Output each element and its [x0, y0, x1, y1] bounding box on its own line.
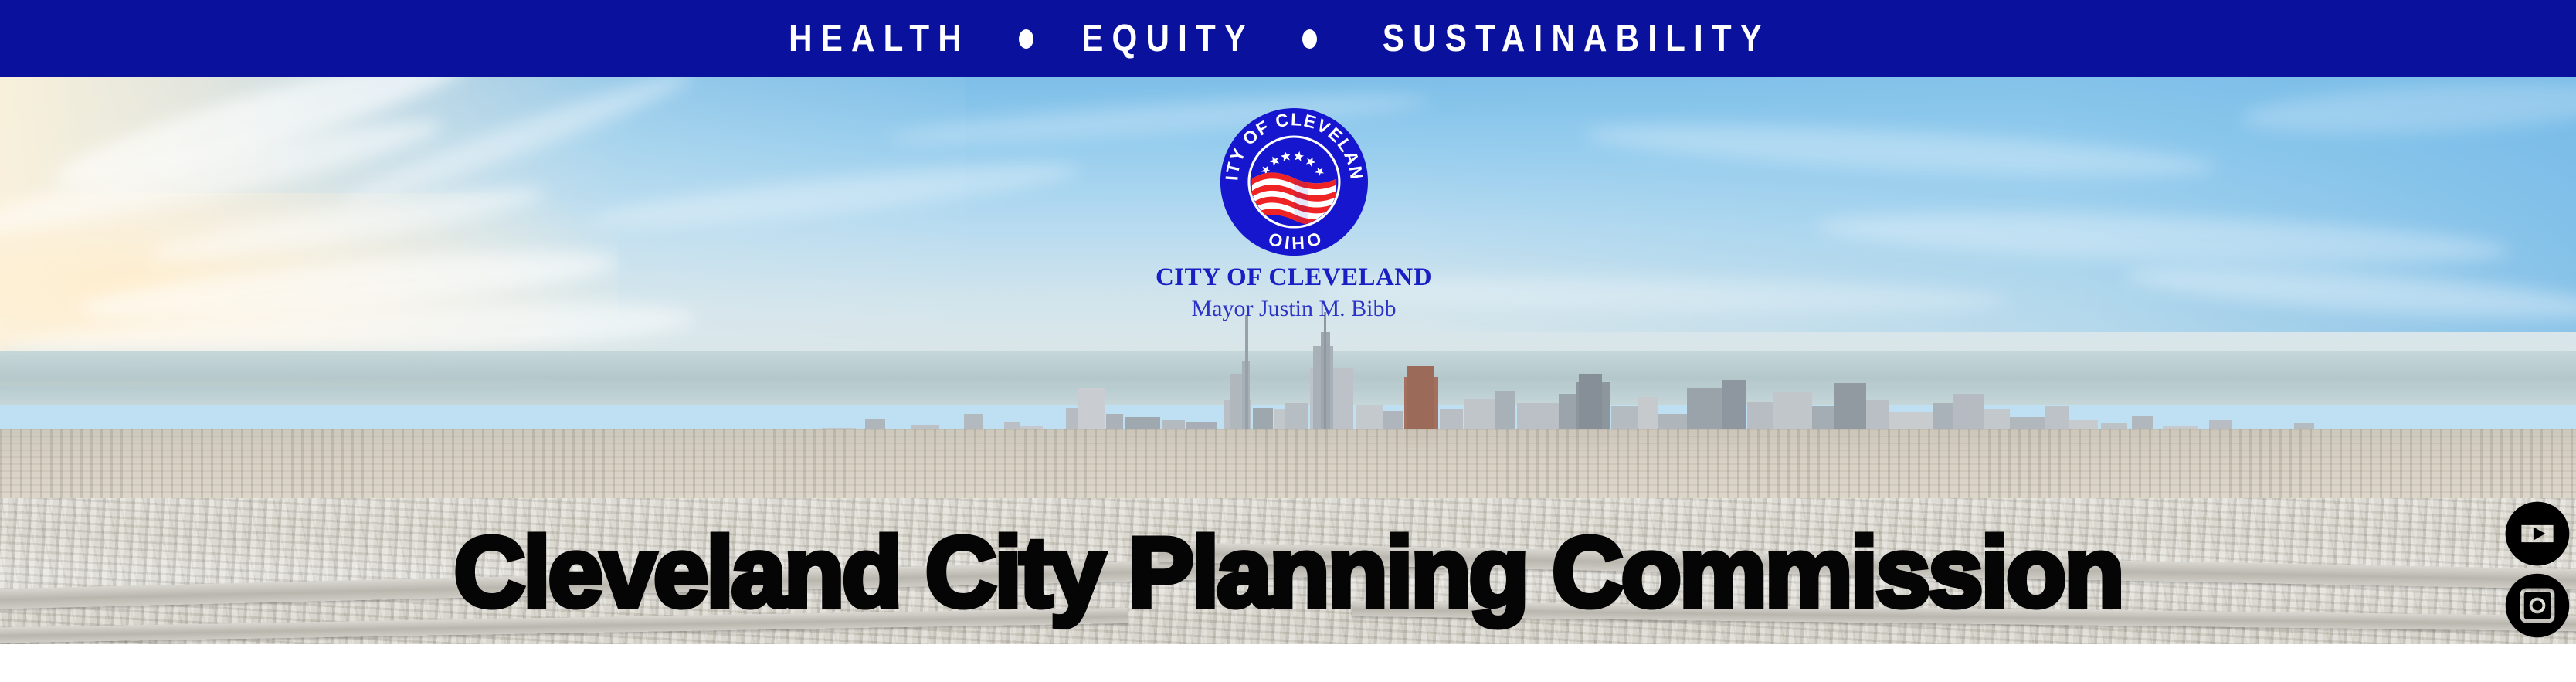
tagline-bar: HEALTH EQUITY SUSTAINABILITY [0, 0, 2576, 77]
mayor-name: Mayor Justin M. Bibb [1191, 297, 1396, 321]
page-title: Cleveland City Planning Commission [0, 524, 2576, 623]
tagline-word-equity: EQUITY [1081, 20, 1254, 58]
tagline-word-sustainability: SUSTAINABILITY [1383, 20, 1770, 58]
social-links [2504, 500, 2571, 644]
key-tower-antenna [1324, 312, 1326, 448]
page-root: HEALTH EQUITY SUSTAINABILITY [0, 0, 2576, 682]
bullet-dot-icon [1019, 29, 1033, 49]
city-logo-block[interactable]: CITY OF CLEVELAND OHIO [1156, 107, 1432, 321]
youtube-icon[interactable] [2504, 500, 2571, 567]
city-of-cleveland-seal-icon: CITY OF CLEVELAND OHIO [1219, 107, 1369, 257]
bullet-dot-icon [1302, 29, 1317, 49]
tagline-word-health: HEALTH [789, 20, 970, 58]
instagram-icon[interactable] [2504, 572, 2571, 639]
tagline-inner: HEALTH EQUITY SUSTAINABILITY [774, 20, 1802, 58]
organization-name: CITY OF CLEVELAND [1156, 265, 1432, 290]
hero-photo: CITY OF CLEVELAND OHIO [0, 77, 2576, 644]
